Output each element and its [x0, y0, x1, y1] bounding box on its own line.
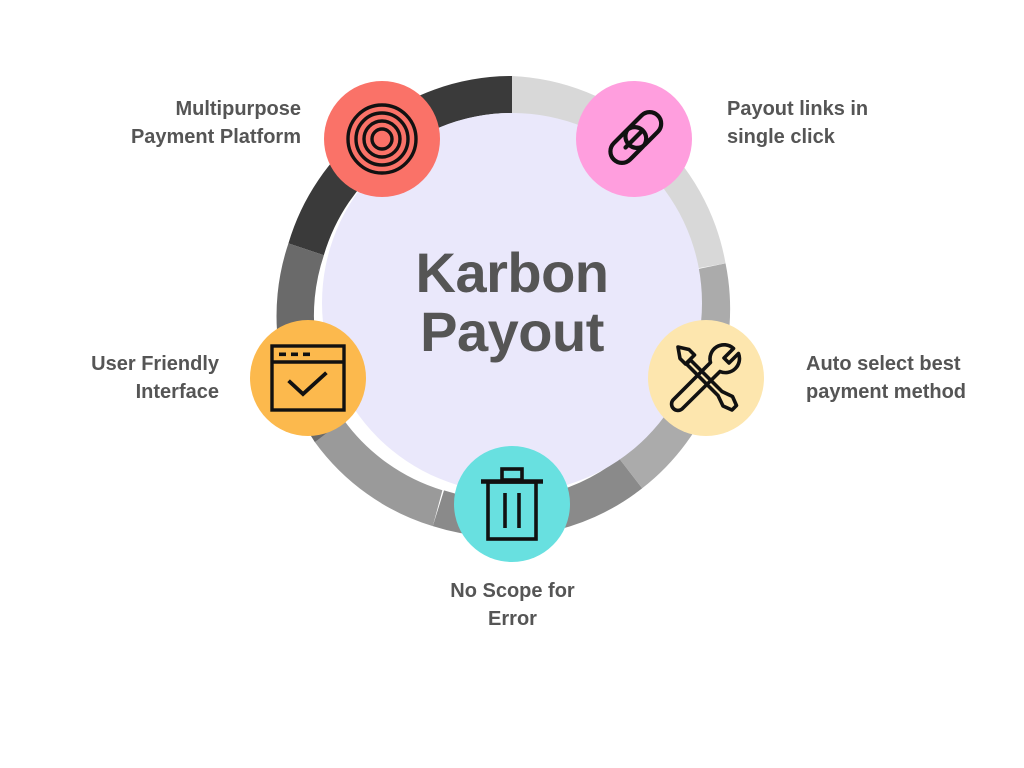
label-user-friendly-interface: User Friendly Interface: [8, 351, 219, 406]
infographic-canvas: Karbon Payout Multipurpose Payment Platf…: [0, 0, 1024, 768]
trash-can-icon: [477, 466, 547, 542]
label-multipurpose-payment-platform: Multipurpose Payment Platform: [20, 96, 301, 151]
node-auto-select-payment-method[interactable]: [648, 320, 764, 436]
page-title: Karbon Payout: [416, 244, 609, 362]
node-no-scope-for-error[interactable]: [454, 446, 570, 562]
label-no-scope-for-error: No Scope for Error: [397, 578, 628, 633]
chain-link-icon: [595, 100, 673, 178]
label-payout-links-single-click: Payout links in single click: [727, 96, 1012, 151]
target-icon: [344, 101, 420, 177]
tools-icon: [666, 338, 746, 418]
node-multipurpose-payment-platform[interactable]: [324, 81, 440, 197]
node-user-friendly-interface[interactable]: [250, 320, 366, 436]
label-auto-select-payment-method: Auto select best payment method: [806, 351, 1018, 406]
node-payout-links-single-click[interactable]: [576, 81, 692, 197]
browser-window-check-icon: [269, 343, 347, 413]
